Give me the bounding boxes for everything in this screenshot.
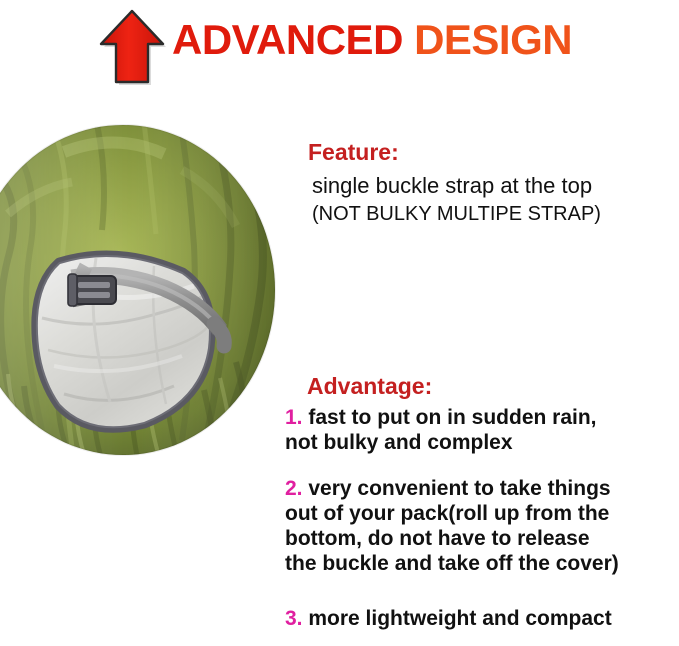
advantage-item-2-number: 2. — [285, 477, 303, 500]
advantage-heading: Advantage: — [307, 372, 679, 401]
product-image-rain-cover — [0, 118, 290, 460]
advantage-item-1: 1. fast to put on in sudden rain, not bu… — [285, 405, 679, 455]
headline-word-advanced: ADVANCED — [172, 16, 403, 63]
page-title: ADVANCED DESIGN — [172, 16, 572, 64]
advantage-item-2-line-4: the buckle and take off the cover) — [285, 551, 679, 576]
feature-section: Feature: single buckle strap at the top … — [308, 138, 672, 228]
feature-line-2: (NOT BULKY MULTIPE STRAP) — [312, 201, 672, 228]
buckle — [68, 274, 116, 306]
advantage-item-2: 2. very convenient to take things out of… — [285, 476, 679, 576]
advantage-item-1-number: 1. — [285, 406, 303, 429]
advantage-item-3-line-1: more lightweight and compact — [308, 607, 611, 630]
advantage-item-1-line-2: not bulky and complex — [285, 430, 679, 455]
advantage-item-2-line-2: out of your pack(roll up from the — [285, 501, 679, 526]
advantage-item-2-line-3: bottom, do not have to release — [285, 526, 679, 551]
feature-heading: Feature: — [308, 138, 672, 167]
up-arrow-icon — [98, 8, 166, 86]
feature-line-1: single buckle strap at the top — [312, 171, 672, 201]
headline-word-design: DESIGN — [414, 16, 572, 63]
advantage-item-3-number: 3. — [285, 607, 303, 630]
header-banner: ADVANCED DESIGN — [0, 0, 679, 96]
advantage-item-3: 3. more lightweight and compact — [285, 606, 679, 631]
advantage-item-1-line-1: fast to put on in sudden rain, — [308, 406, 596, 429]
advantage-section: Advantage: 1. fast to put on in sudden r… — [285, 372, 679, 631]
advantage-item-2-line-1: very convenient to take things — [308, 477, 610, 500]
infographic-page: ADVANCED DESIGN — [0, 0, 679, 646]
